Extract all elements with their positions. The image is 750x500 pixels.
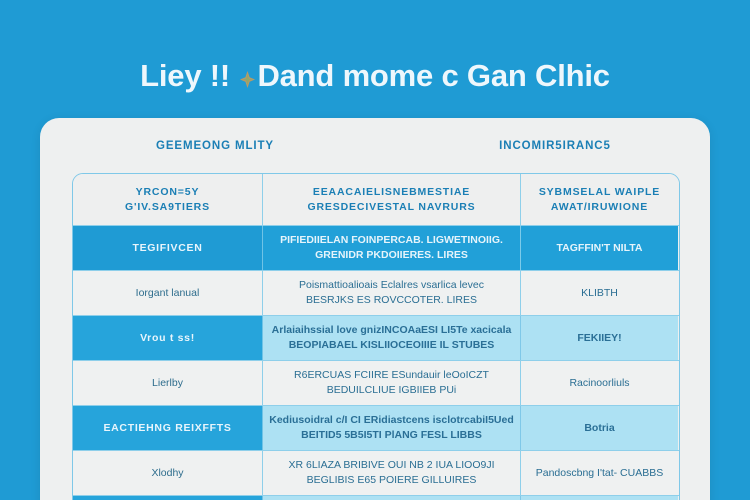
- column-header-2-line-2: GRESDECIVESTAL NAVRURS: [307, 200, 475, 215]
- row-3-cell-2: Arlaiaihssial love gnizINCOAaESI LI5Te x…: [263, 316, 521, 360]
- page-title: Liey !! Dand mome c Gan Clhic: [140, 54, 610, 98]
- column-header-3: SYBMSELAL WAIPLEAWAT/IRUWIONE: [521, 174, 678, 225]
- row-5-cell-1-line-1: EACTIEHNG REIXFFTS: [103, 421, 231, 436]
- row-5-cell-3-line-1: Botria: [584, 421, 614, 436]
- row-2-cell-2-line-1: Poismattioalioais Eclalres vsarlica leve…: [299, 278, 484, 293]
- row-5-cell-3: Botria: [521, 406, 678, 450]
- row-6-cell-1: Xlodhy: [73, 451, 263, 495]
- row-3-cell-2-line-1: Arlaiaihssial love gnizINCOAaESI LI5Te x…: [272, 323, 512, 338]
- row-4-cell-1-line-1: Lierlby: [152, 376, 183, 391]
- content-card: GEEMEONG MLITY INCOMIR5IRANC5 YRCON=5YG'…: [40, 118, 710, 500]
- group-caption-2: INCOMIR5IRANC5: [440, 140, 670, 152]
- row-2-cell-1-line-1: Iorgant lanual: [136, 286, 200, 301]
- table-row[interactable]: Iorgant lanualPoismattioalioais Eclalres…: [73, 271, 679, 316]
- row-7-cell-2: Ialdiauoe Idieesicall Leobeegkth tbirKie…: [263, 496, 521, 500]
- row-1-cell-2: PIFIEDIIELAN FOINPERCAB. LIGWETINOIIG.GR…: [263, 226, 521, 270]
- row-1-cell-2-line-1: PIFIEDIIELAN FOINPERCAB. LIGWETINOIIG.: [280, 233, 503, 248]
- page-title-text-tail: Dand mome c Gan Clhic: [257, 58, 609, 93]
- row-1-cell-3: TAGFFIN'T NILTA: [521, 226, 678, 270]
- column-header-3-line-1: SYBMSELAL WAIPLE: [539, 185, 660, 200]
- row-6-cell-1-line-1: Xlodhy: [151, 466, 183, 481]
- column-header-3-line-2: AWAT/IRUWIONE: [551, 200, 648, 215]
- row-2-cell-2-line-2: BESRJKS ES ROVCCOTER. LIRES: [306, 293, 477, 308]
- comparison-table: YRCON=5YG'IV.SA9TIERSEEAACAIELISNEBMESTI…: [72, 173, 680, 500]
- row-3-cell-3-line-1: FEKIIEY!: [577, 331, 621, 346]
- row-7-cell-3: Scienagriduaprtnc: [521, 496, 678, 500]
- row-6-cell-2-line-1: XR 6LIAZA BRIBIVE OUI NB 2 IUA LIOO9JI: [289, 458, 495, 473]
- page-title-container: Liey !! Dand mome c Gan Clhic: [0, 54, 750, 102]
- group-caption-1: GEEMEONG MLITY: [90, 140, 340, 152]
- sparkle-icon: [239, 70, 256, 89]
- row-2-cell-1: Iorgant lanual: [73, 271, 263, 315]
- row-1-cell-3-line-1: TAGFFIN'T NILTA: [557, 241, 643, 256]
- table-row[interactable]: XlodhyXR 6LIAZA BRIBIVE OUI NB 2 IUA LIO…: [73, 451, 679, 496]
- row-5-cell-2: Kediusoidral c/I CI ERidiastcens isclotr…: [263, 406, 521, 450]
- column-header-1: YRCON=5YG'IV.SA9TIERS: [73, 174, 263, 225]
- row-5-cell-2-line-1: Kediusoidral c/I CI ERidiastcens isclotr…: [269, 413, 514, 428]
- row-1-cell-2-line-2: GRENIDR PKDOIIERES. LIRES: [315, 248, 468, 263]
- row-4-cell-2-line-1: R6ERCUAS FCIIRE ESundauir leOoICZT: [294, 368, 489, 383]
- table-row[interactable]: TEGIFIVCENPIFIEDIIELAN FOINPERCAB. LIGWE…: [73, 226, 679, 271]
- row-2-cell-3-line-1: KLIBTH: [581, 286, 618, 301]
- row-3-cell-2-line-2: BEOPIABAEL KISLIIOCEOIIIE IL STUBES: [289, 338, 495, 353]
- row-6-cell-2-line-2: BEGLIBIS E65 POIERE GILLUIRES: [307, 473, 477, 488]
- row-7-cell-1: Enot Hexul: [73, 496, 263, 500]
- row-2-cell-2: Poismattioalioais Eclalres vsarlica leve…: [263, 271, 521, 315]
- row-5-cell-2-line-2: BEITID5 5B5I5TI PlANG FESL LIBBS: [301, 428, 482, 443]
- group-captions: GEEMEONG MLITY INCOMIR5IRANC5: [40, 140, 710, 162]
- column-header-1-line-1: YRCON=5Y: [136, 185, 200, 200]
- table-row[interactable]: Vrou t ss!Arlaiaihssial love gnizINCOAaE…: [73, 316, 679, 361]
- row-4-cell-2-line-2: BEDUILCLIUE IGBIIEB PUi: [327, 383, 457, 398]
- row-4-cell-1: Lierlby: [73, 361, 263, 405]
- row-1-cell-1: TEGIFIVCEN: [73, 226, 263, 270]
- row-5-cell-1: EACTIEHNG REIXFFTS: [73, 406, 263, 450]
- table-row[interactable]: EACTIEHNG REIXFFTSKediusoidral c/I CI ER…: [73, 406, 679, 451]
- row-2-cell-3: KLIBTH: [521, 271, 678, 315]
- column-header-2-line-1: EEAACAIELISNEBMESTIAE: [313, 185, 470, 200]
- table-row[interactable]: Enot HexulIaldiauoe Idieesicall Leobeegk…: [73, 496, 679, 500]
- row-3-cell-3: FEKIIEY!: [521, 316, 678, 360]
- row-4-cell-3-line-1: Racinoorliuls: [569, 376, 629, 391]
- row-1-cell-1-line-1: TEGIFIVCEN: [132, 241, 202, 256]
- table-row[interactable]: LierlbyR6ERCUAS FCIIRE ESundauir leOoICZ…: [73, 361, 679, 406]
- column-header-1-line-2: G'IV.SA9TIERS: [125, 200, 210, 215]
- table-header-row: YRCON=5YG'IV.SA9TIERSEEAACAIELISNEBMESTI…: [73, 174, 679, 226]
- row-6-cell-2: XR 6LIAZA BRIBIVE OUI NB 2 IUA LIOO9JIBE…: [263, 451, 521, 495]
- row-3-cell-1-line-1: Vrou t ss!: [140, 331, 195, 346]
- column-header-2: EEAACAIELISNEBMESTIAEGRESDECIVESTAL NAVR…: [263, 174, 521, 225]
- row-6-cell-3-line-1: Pandoscbng I'tat- CUABBS: [536, 466, 664, 481]
- page-title-text-lead: Liey !!: [140, 58, 238, 93]
- row-4-cell-2: R6ERCUAS FCIIRE ESundauir leOoICZTBEDUIL…: [263, 361, 521, 405]
- row-3-cell-1: Vrou t ss!: [73, 316, 263, 360]
- row-6-cell-3: Pandoscbng I'tat- CUABBS: [521, 451, 678, 495]
- row-4-cell-3: Racinoorliuls: [521, 361, 678, 405]
